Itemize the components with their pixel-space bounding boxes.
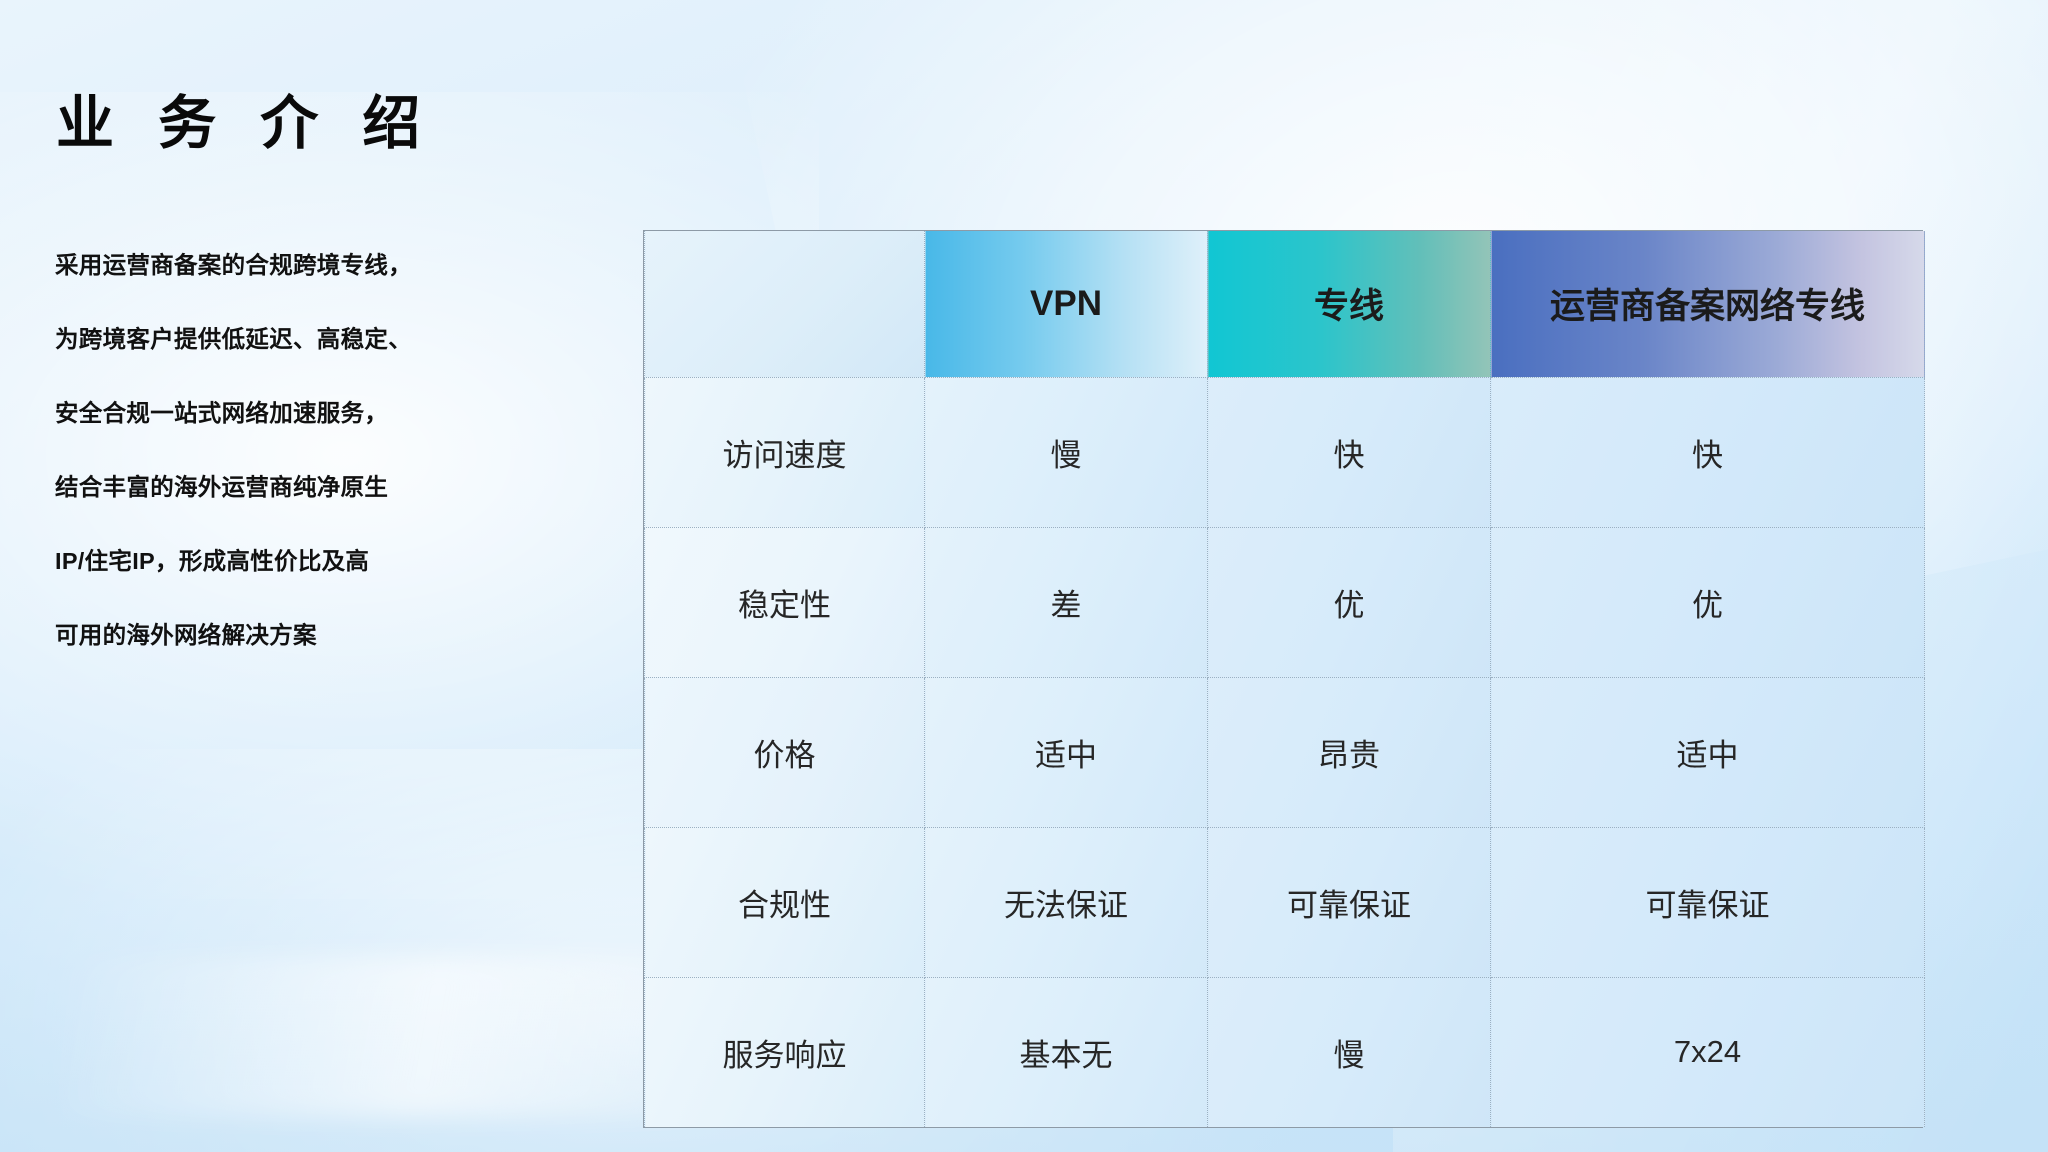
intro-paragraph: 采用运营商备案的合规跨境专线， 为跨境客户提供低延迟、高稳定、 安全合规一站式网… <box>55 228 475 672</box>
table-row: 服务响应 基本无 慢 7x24 <box>645 977 1925 1127</box>
intro-line: 采用运营商备案的合规跨境专线， <box>55 228 475 302</box>
intro-line: IP/住宅IP，形成高性价比及高 <box>55 524 475 598</box>
header-cell-blank <box>645 231 925 377</box>
table-body: 访问速度 慢 快 快 稳定性 差 优 优 价格 适中 昂贵 适中 <box>645 377 1925 1127</box>
row-label-service-response: 服务响应 <box>645 977 925 1127</box>
table-header: VPN 专线 运营商备案网络专线 <box>645 231 1925 377</box>
cell-value: 可靠保证 <box>1491 827 1925 977</box>
header-cell-dedicated-line: 专线 <box>1208 231 1491 377</box>
comparison-table: VPN 专线 运营商备案网络专线 访问速度 慢 快 快 稳定性 差 优 优 <box>643 230 1923 1128</box>
header-cell-vpn: VPN <box>925 231 1208 377</box>
cell-value: 适中 <box>925 677 1208 827</box>
comparison-table-grid: VPN 专线 运营商备案网络专线 访问速度 慢 快 快 稳定性 差 优 优 <box>644 231 1925 1127</box>
cell-value: 差 <box>925 527 1208 677</box>
row-label-stability: 稳定性 <box>645 527 925 677</box>
row-label-access-speed: 访问速度 <box>645 377 925 527</box>
slide-canvas: 业 务 介 绍 采用运营商备案的合规跨境专线， 为跨境客户提供低延迟、高稳定、 … <box>0 0 2048 1152</box>
cell-value: 可靠保证 <box>1208 827 1491 977</box>
cell-value: 适中 <box>1491 677 1925 827</box>
table-row: 合规性 无法保证 可靠保证 可靠保证 <box>645 827 1925 977</box>
cell-value: 7x24 <box>1491 977 1925 1127</box>
cell-value: 快 <box>1208 377 1491 527</box>
header-cell-filed-network-line: 运营商备案网络专线 <box>1491 231 1925 377</box>
cell-value: 慢 <box>925 377 1208 527</box>
cell-value: 优 <box>1491 527 1925 677</box>
intro-line: 结合丰富的海外运营商纯净原生 <box>55 450 475 524</box>
cell-value: 昂贵 <box>1208 677 1491 827</box>
row-label-price: 价格 <box>645 677 925 827</box>
row-label-compliance: 合规性 <box>645 827 925 977</box>
intro-line: 可用的海外网络解决方案 <box>55 598 475 672</box>
cell-value: 无法保证 <box>925 827 1208 977</box>
table-row: 价格 适中 昂贵 适中 <box>645 677 1925 827</box>
table-row: 稳定性 差 优 优 <box>645 527 1925 677</box>
intro-line: 为跨境客户提供低延迟、高稳定、 <box>55 302 475 376</box>
table-header-row: VPN 专线 运营商备案网络专线 <box>645 231 1925 377</box>
cell-value: 慢 <box>1208 977 1491 1127</box>
cell-value: 快 <box>1491 377 1925 527</box>
page-title: 业 务 介 绍 <box>56 91 434 158</box>
intro-line: 安全合规一站式网络加速服务， <box>55 376 475 450</box>
cell-value: 基本无 <box>925 977 1208 1127</box>
cell-value: 优 <box>1208 527 1491 677</box>
table-row: 访问速度 慢 快 快 <box>645 377 1925 527</box>
